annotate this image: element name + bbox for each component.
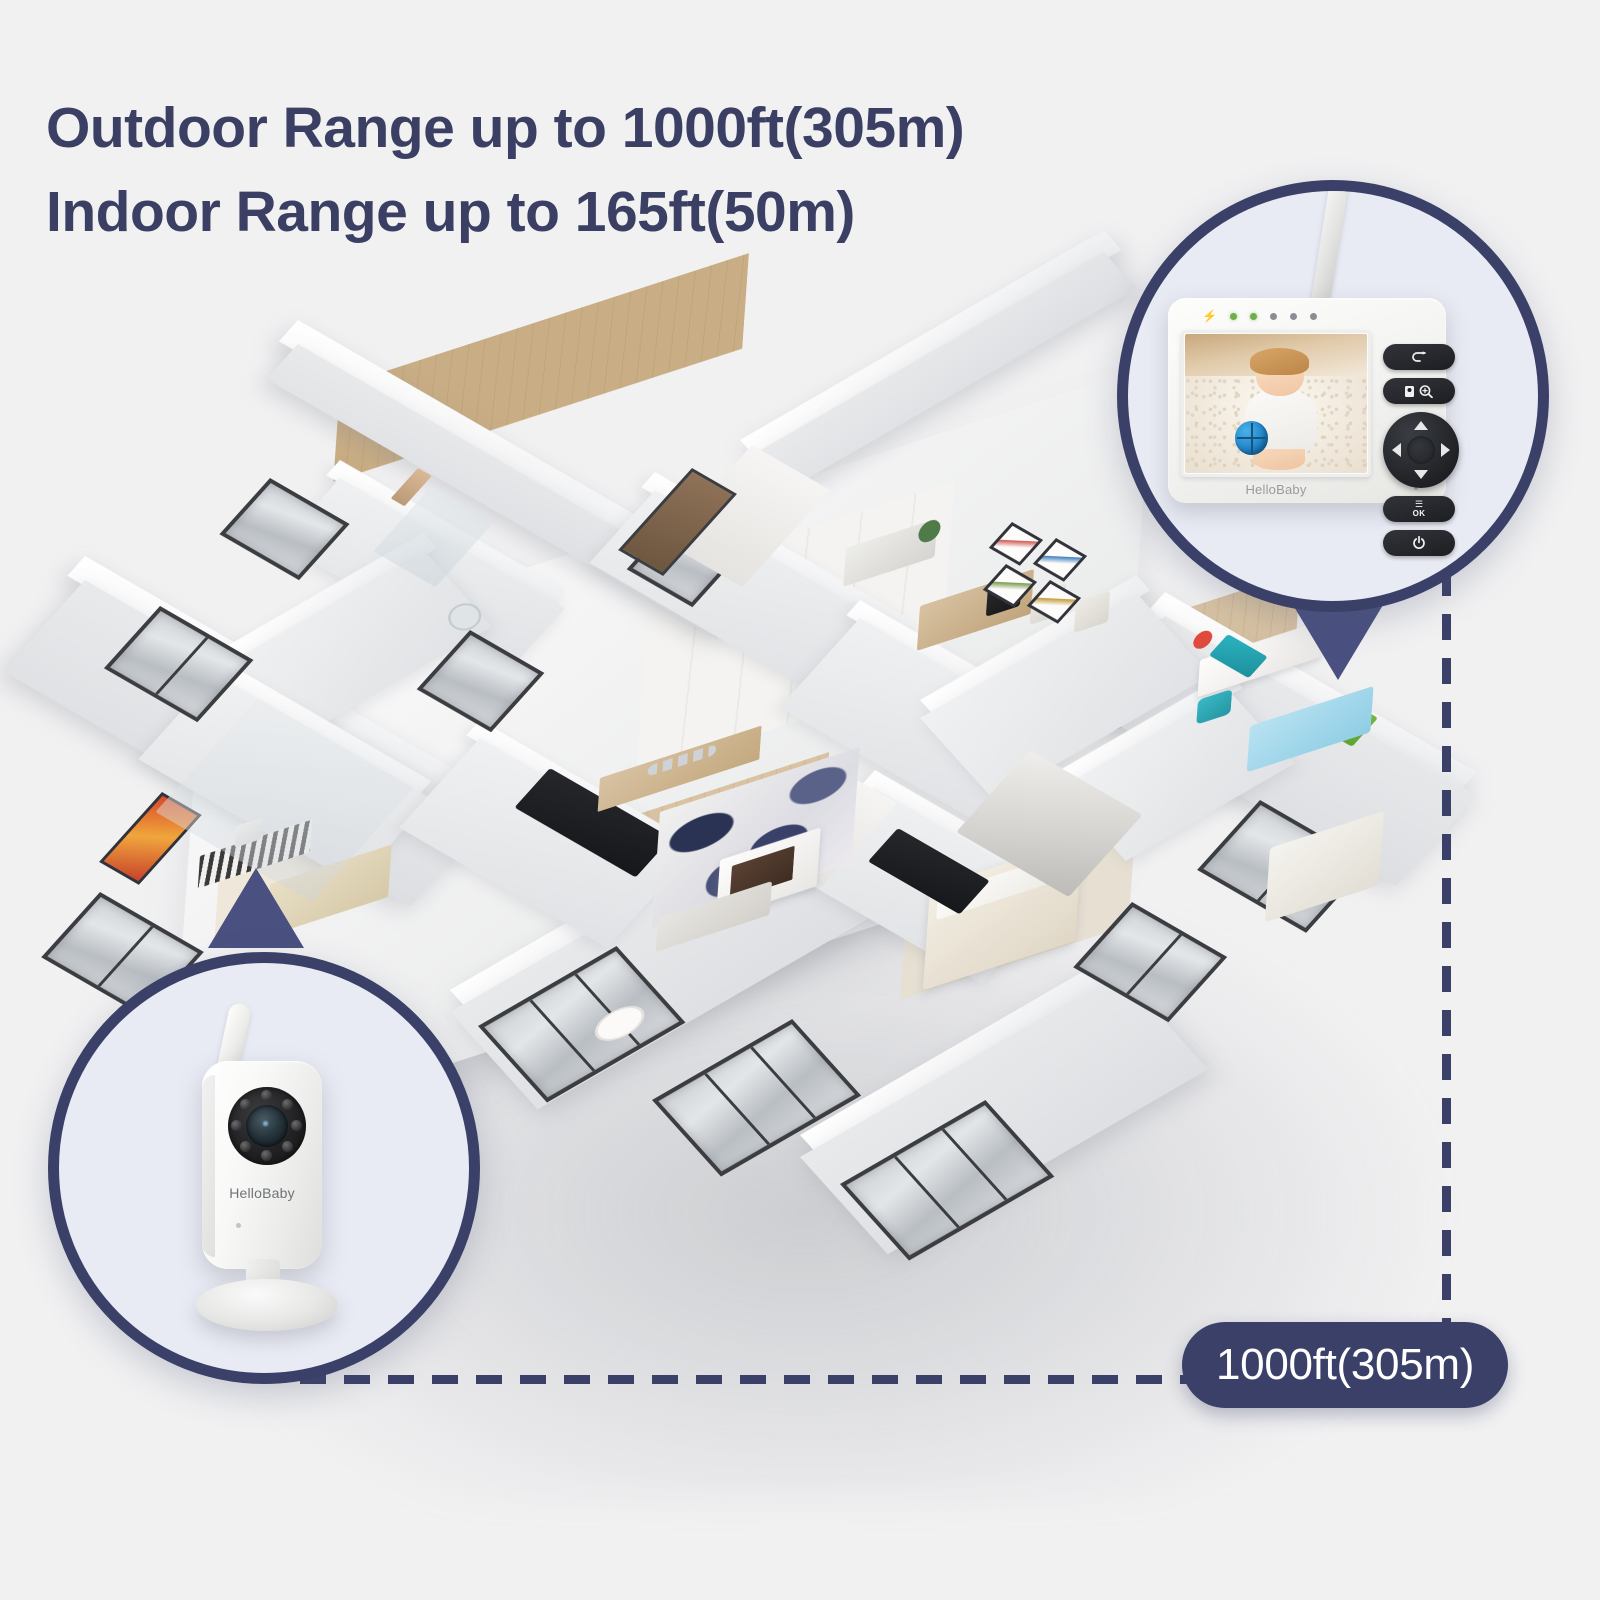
ir-led-2	[282, 1099, 293, 1110]
ir-led-8	[240, 1099, 251, 1110]
pointer-triangle-down	[1290, 600, 1386, 680]
camera-body-edge	[202, 1075, 215, 1257]
led-indicator-row: ⚡	[1202, 310, 1317, 322]
camera-zoom-button[interactable]	[1383, 378, 1455, 404]
camera-body: HelloBaby	[202, 1061, 322, 1269]
baby-legs	[1253, 449, 1305, 470]
monitor-button-column: ☰ OK	[1383, 344, 1461, 564]
ir-led-4	[282, 1141, 293, 1152]
parent-monitor-unit[interactable]: ⚡	[1168, 274, 1498, 534]
status-led-5	[1310, 313, 1317, 320]
status-led-4	[1290, 313, 1297, 320]
dpad-left-arrow-icon[interactable]	[1392, 443, 1401, 457]
monitor-screen[interactable]	[1185, 334, 1367, 473]
status-led-1	[1230, 313, 1237, 320]
product-range-infographic: Outdoor Range up to 1000ft(305m) Indoor …	[0, 0, 1600, 1600]
blue-ball-icon	[1235, 421, 1268, 455]
menu-ok-button[interactable]: ☰ OK	[1383, 496, 1455, 522]
baby-hair	[1250, 348, 1309, 375]
dashed-line-horizontal	[300, 1375, 1200, 1384]
ir-led-7	[231, 1120, 242, 1131]
camera-swivel-base	[196, 1279, 338, 1331]
headline-block: Outdoor Range up to 1000ft(305m) Indoor …	[46, 86, 1246, 255]
back-button[interactable]	[1383, 344, 1455, 370]
headline-outdoor-range: Outdoor Range up to 1000ft(305m)	[46, 86, 1246, 170]
pointer-triangle-up	[208, 868, 304, 948]
distance-badge: 1000ft(305m)	[1182, 1322, 1508, 1408]
menu-lines-icon: ☰	[1415, 500, 1423, 509]
ir-led-3	[291, 1120, 302, 1131]
charging-bolt-icon: ⚡	[1202, 310, 1217, 322]
power-button[interactable]	[1383, 530, 1455, 556]
monitor-bezel	[1181, 330, 1371, 477]
baby-camera-unit[interactable]: HelloBaby	[174, 1003, 354, 1333]
dpad-center-button[interactable]	[1407, 436, 1435, 464]
infrared-led-ring	[228, 1087, 306, 1165]
ir-led-1	[261, 1090, 272, 1101]
camera-callout-circle: HelloBaby	[48, 952, 480, 1384]
dashed-line-vertical	[1442, 570, 1451, 1380]
camera-lens-icon	[246, 1105, 288, 1147]
monitor-brand-label: HelloBaby	[1181, 482, 1371, 497]
monitor-body: ⚡	[1168, 298, 1446, 503]
screen-baby-figure	[1240, 354, 1324, 471]
ok-label: OK	[1413, 510, 1426, 518]
ir-led-6	[240, 1141, 251, 1152]
monitor-antenna-icon	[1311, 180, 1352, 303]
dpad-up-arrow-icon[interactable]	[1414, 421, 1428, 430]
camera-brand-label: HelloBaby	[202, 1185, 322, 1201]
ir-led-5	[261, 1150, 272, 1161]
headline-indoor-range: Indoor Range up to 165ft(50m)	[46, 170, 1246, 254]
camera-microphone-icon	[236, 1223, 241, 1228]
status-led-3	[1270, 313, 1277, 320]
dpad-down-arrow-icon[interactable]	[1414, 470, 1428, 479]
directional-pad[interactable]	[1383, 412, 1459, 488]
status-led-2	[1250, 313, 1257, 320]
dpad-right-arrow-icon[interactable]	[1441, 443, 1450, 457]
